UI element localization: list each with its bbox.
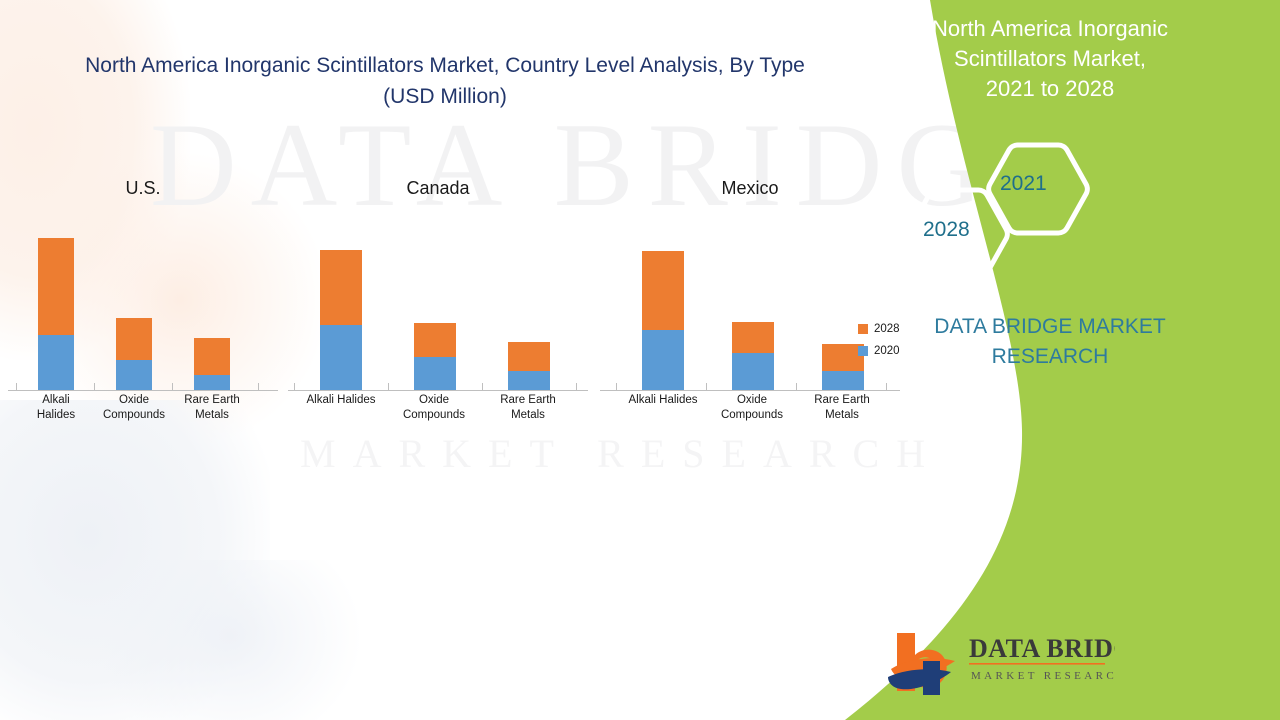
legend-item-2020[interactable]: 2020 xyxy=(858,340,928,362)
bar-segment-2028 xyxy=(414,323,456,357)
axis-tick xyxy=(294,383,295,391)
logo-wordmark: DATA BRIDGE xyxy=(969,634,1115,663)
x-axis-line-us xyxy=(8,390,278,391)
blue-blob-decoration-2 xyxy=(100,560,360,720)
bar-segment-2028 xyxy=(38,238,74,335)
axis-tick xyxy=(172,383,173,391)
bar-segment-2020 xyxy=(414,357,456,390)
category-labels-canada: Alkali Halides Oxide Compounds Rare Eart… xyxy=(288,393,588,443)
axis-tick xyxy=(16,383,17,391)
bar-alkali-halides-mexico[interactable] xyxy=(642,251,684,390)
bar-oxide-compounds-us[interactable] xyxy=(116,318,152,390)
axis-tick xyxy=(886,383,887,391)
category-labels-us: Alkali Halides Oxide Compounds Rare Eart… xyxy=(8,393,278,443)
bar-segment-2028 xyxy=(508,342,550,371)
axis-tick xyxy=(576,383,577,391)
bar-segment-2020 xyxy=(320,325,362,390)
legend-swatch-icon xyxy=(858,324,868,334)
axis-tick xyxy=(796,383,797,391)
hexagon-outlines xyxy=(890,140,1210,270)
category-label: Alkali Halides xyxy=(622,393,704,408)
bar-segment-2028 xyxy=(642,251,684,330)
logo-tagline: MARKET RESEARCH xyxy=(971,670,1115,682)
data-bridge-logo: DATA BRIDGE MARKET RESEARCH xyxy=(885,625,1115,700)
category-label: Oxide Compounds xyxy=(396,393,472,423)
legend-item-2028[interactable]: 2028 xyxy=(858,318,928,340)
category-label: Alkali Halides xyxy=(300,393,382,408)
logo-artwork: DATA BRIDGE MARKET RESEARCH xyxy=(885,625,1115,700)
bar-segment-2020 xyxy=(194,375,230,390)
bar-segment-2028 xyxy=(732,322,774,353)
axis-tick xyxy=(258,383,259,391)
bar-oxide-compounds-mexico[interactable] xyxy=(732,322,774,390)
x-axis-line-mexico xyxy=(600,390,900,391)
category-label: Oxide Compounds xyxy=(714,393,790,423)
chart-panel-mexico: Mexico Alkali Halides Oxide Compounds Ra… xyxy=(600,168,900,453)
bar-segment-2028 xyxy=(194,338,230,375)
chart-country-title-canada: Canada xyxy=(288,178,588,199)
hexagon-label-2021: 2021 xyxy=(1000,172,1047,196)
bar-segment-2020 xyxy=(822,371,864,390)
axis-tick xyxy=(94,383,95,391)
chart-legend: 2028 2020 xyxy=(858,318,928,362)
chart-panel-us: U.S. Alkali Halides Oxide Compounds Rare… xyxy=(8,168,278,453)
axis-tick xyxy=(706,383,707,391)
axis-tick xyxy=(616,383,617,391)
plot-area-us xyxy=(8,216,278,391)
bar-rare-earth-metals-canada[interactable] xyxy=(508,342,550,390)
x-axis-line-canada xyxy=(288,390,588,391)
plot-area-mexico xyxy=(600,216,900,391)
bar-segment-2028 xyxy=(116,318,152,360)
category-label: Oxide Compounds xyxy=(98,393,170,423)
plot-area-canada xyxy=(288,216,588,391)
page-title: North America Inorganic Scintillators Ma… xyxy=(20,50,870,112)
chart-country-title-mexico: Mexico xyxy=(600,178,900,199)
bar-segment-2028 xyxy=(320,250,362,325)
bar-alkali-halides-canada[interactable] xyxy=(320,250,362,390)
panel-title: North America Inorganic Scintillators Ma… xyxy=(860,14,1240,104)
chart-panel-canada: Canada Alkali Halides Oxide Compounds Ra… xyxy=(288,168,588,453)
legend-swatch-icon xyxy=(858,346,868,356)
bar-rare-earth-metals-us[interactable] xyxy=(194,338,230,390)
chart-country-title-us: U.S. xyxy=(8,178,278,199)
category-labels-mexico: Alkali Halides Oxide Compounds Rare Eart… xyxy=(600,393,900,443)
axis-tick xyxy=(482,383,483,391)
axis-tick xyxy=(388,383,389,391)
category-label: Rare Earth Metals xyxy=(804,393,880,423)
bar-segment-2020 xyxy=(38,335,74,390)
hexagon-group xyxy=(890,140,1210,270)
bar-oxide-compounds-canada[interactable] xyxy=(414,323,456,390)
legend-label: 2020 xyxy=(874,345,900,357)
category-label: Rare Earth Metals xyxy=(490,393,566,423)
bar-segment-2020 xyxy=(732,353,774,390)
bar-segment-2020 xyxy=(642,330,684,390)
category-label: Rare Earth Metals xyxy=(176,393,248,423)
bar-segment-2020 xyxy=(508,371,550,390)
category-label: Alkali Halides xyxy=(20,393,92,423)
bar-alkali-halides-us[interactable] xyxy=(38,238,74,390)
hexagon-label-2028: 2028 xyxy=(923,218,970,242)
legend-label: 2028 xyxy=(874,323,900,335)
bar-segment-2020 xyxy=(116,360,152,390)
